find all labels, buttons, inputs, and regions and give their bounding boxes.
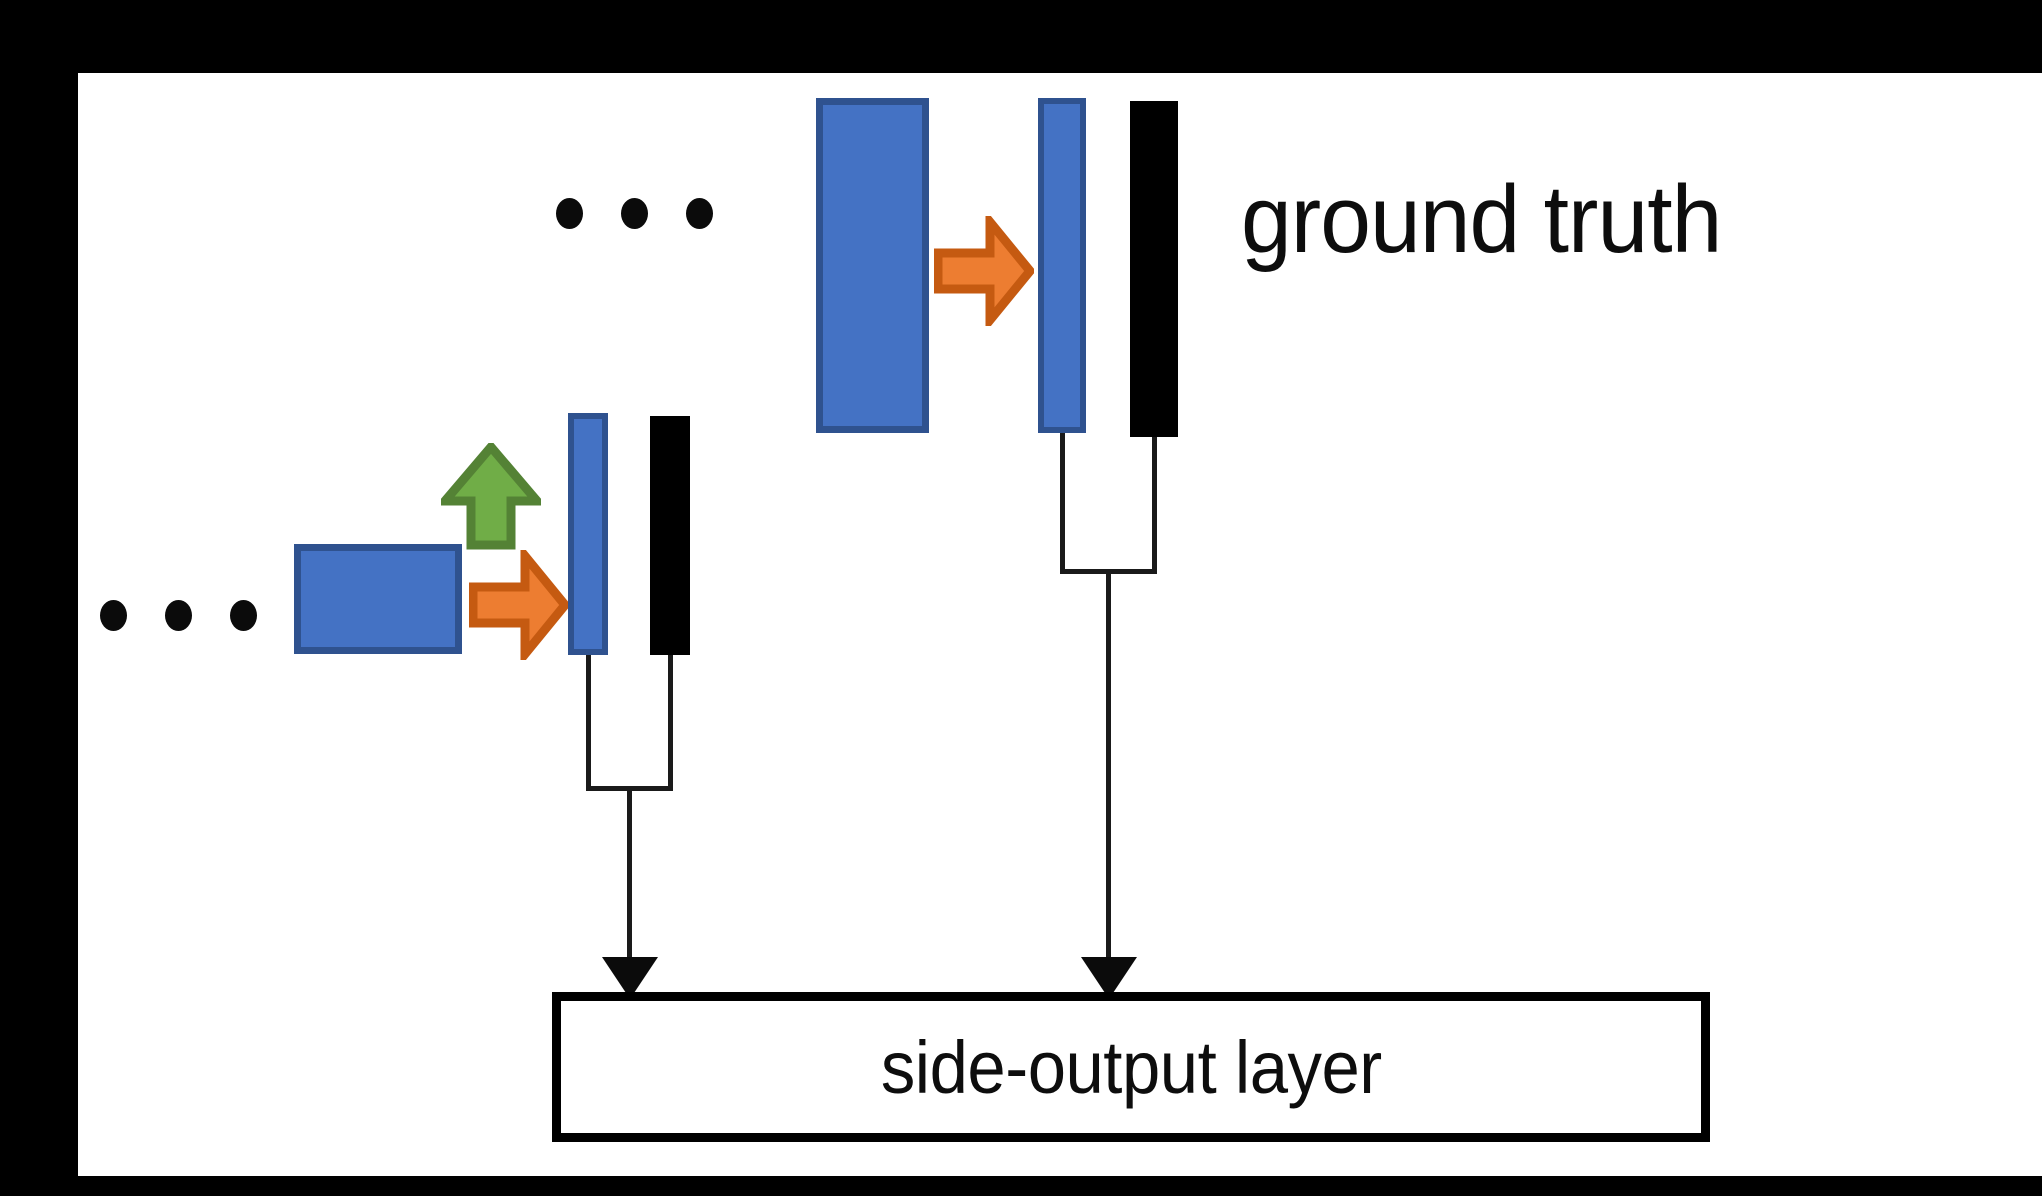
top-connector-right-vline xyxy=(1152,437,1157,573)
top-connector-left-vline xyxy=(1060,433,1065,573)
top-connector-down-vline xyxy=(1106,569,1111,969)
figure-canvas: ground truth xyxy=(78,73,2042,1176)
arrow-right-icon xyxy=(934,216,1034,326)
middle-prediction-bar xyxy=(568,413,608,655)
middle-connector-down-vline xyxy=(627,786,632,969)
ellipsis-dot xyxy=(165,600,192,631)
figure-stage: ground truth xyxy=(0,0,2042,1196)
ellipsis-dot xyxy=(556,198,583,229)
middle-connector-right-vline xyxy=(668,655,673,790)
side-output-layer-label: side-output layer xyxy=(881,1025,1382,1110)
middle-feature-block xyxy=(294,544,462,654)
top-groundtruth-bar xyxy=(1130,101,1178,437)
ground-truth-label: ground truth xyxy=(1241,165,1721,275)
top-orange-arrow-icon xyxy=(934,216,1034,326)
middle-groundtruth-bar xyxy=(650,416,690,655)
middle-orange-arrow-icon xyxy=(469,550,569,660)
middle-ellipsis-dots xyxy=(100,600,257,631)
side-output-layer-box[interactable]: side-output layer xyxy=(552,992,1710,1142)
ellipsis-dot xyxy=(621,198,648,229)
ellipsis-dot xyxy=(686,198,713,229)
top-ellipsis-dots xyxy=(556,198,713,229)
top-prediction-bar xyxy=(1038,98,1086,433)
ellipsis-dot xyxy=(100,600,127,631)
green-up-arrow-icon xyxy=(441,443,541,551)
arrow-right-icon xyxy=(469,550,569,660)
top-feature-block xyxy=(816,98,929,433)
ellipsis-dot xyxy=(230,600,257,631)
middle-connector-left-vline xyxy=(586,655,591,790)
arrow-up-icon xyxy=(441,443,541,551)
